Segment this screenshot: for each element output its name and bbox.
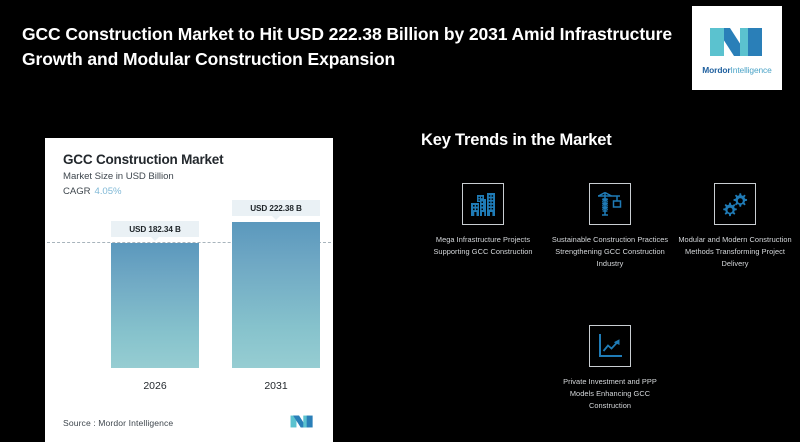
- bar-value-label-2031: USD 222.38 B: [232, 200, 320, 216]
- bar-chart-plot: USD 182.34 B2026USD 222.38 B2031: [45, 210, 333, 406]
- chart-title: GCC Construction Market: [63, 152, 223, 167]
- mordor-intelligence-logo: MordorIntelligence: [692, 6, 782, 90]
- bar-2031: [232, 222, 320, 368]
- city-buildings-icon: [462, 183, 504, 225]
- cagr-label: CAGR: [63, 186, 91, 197]
- growth-chart-icon: [589, 325, 631, 367]
- trend-label: Private Investment and PPP Models Enhanc…: [551, 376, 669, 412]
- x-axis-label-2026: 2026: [115, 380, 195, 392]
- logo-word-mordor: Mordor: [702, 65, 730, 75]
- x-axis-label-2031: 2031: [236, 380, 316, 392]
- trend-label: Sustainable Construction Practices Stren…: [551, 234, 669, 270]
- market-chart-card: GCC Construction Market Market Size in U…: [45, 138, 333, 442]
- logo-wordmark: MordorIntelligence: [702, 65, 771, 75]
- chart-source: Source : Mordor Intelligence: [63, 418, 173, 428]
- trend-item-private-investment[interactable]: Private Investment and PPP Models Enhanc…: [551, 325, 669, 412]
- bar-2026: [111, 243, 199, 368]
- trend-label: Mega Infrastructure Projects Supporting …: [424, 234, 542, 258]
- mordor-logo-mark: [708, 22, 766, 62]
- cagr-row: CAGR4.05%: [63, 186, 121, 197]
- trend-label: Modular and Modern Construction Methods …: [676, 234, 794, 270]
- page-header: GCC Construction Market to Hit USD 222.3…: [0, 0, 800, 108]
- cagr-value: 4.05%: [95, 186, 122, 197]
- bar-value-label-2026: USD 182.34 B: [111, 221, 199, 237]
- gears-icon: [714, 183, 756, 225]
- card-mordor-logo-icon: [289, 413, 315, 430]
- construction-crane-icon: [589, 183, 631, 225]
- trend-item-mega-infrastructure[interactable]: Mega Infrastructure Projects Supporting …: [424, 183, 542, 258]
- page-title: GCC Construction Market to Hit USD 222.3…: [22, 22, 672, 72]
- trends-heading: Key Trends in the Market: [421, 131, 612, 150]
- trend-item-sustainable-practices[interactable]: Sustainable Construction Practices Stren…: [551, 183, 669, 270]
- chart-subtitle: Market Size in USD Billion: [63, 171, 174, 182]
- trend-item-modular-methods[interactable]: Modular and Modern Construction Methods …: [676, 183, 794, 270]
- logo-word-intelligence: Intelligence: [731, 65, 772, 75]
